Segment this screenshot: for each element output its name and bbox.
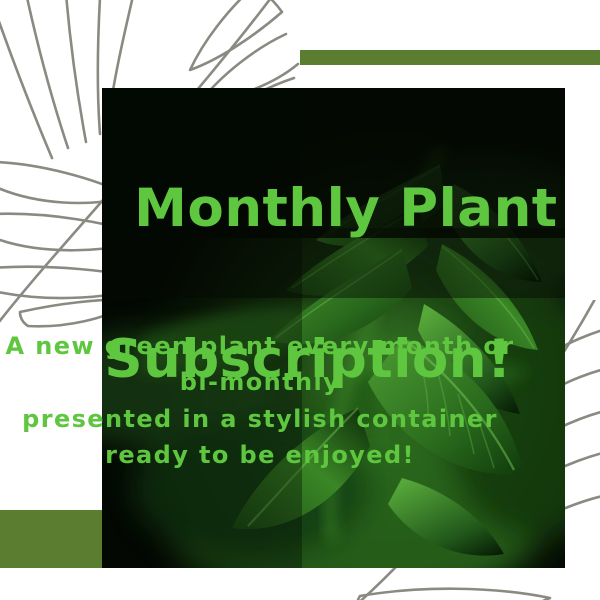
headline-line-1: Monthly Plant: [134, 178, 557, 239]
body-line-4: ready to be enjoyed!: [0, 437, 520, 473]
poster-canvas: Monthly Plant Subscription! A new green …: [0, 0, 600, 600]
body-line-2: bi-monthly: [0, 364, 520, 400]
page-title: Monthly Plant Subscription!: [58, 96, 558, 548]
body-line-3: presented in a stylish container: [0, 401, 520, 437]
body-line-1: A new green plant every month or: [0, 328, 520, 364]
top-accent-bar: [300, 50, 600, 65]
body-copy: A new green plant every month or bi-mont…: [0, 328, 520, 474]
